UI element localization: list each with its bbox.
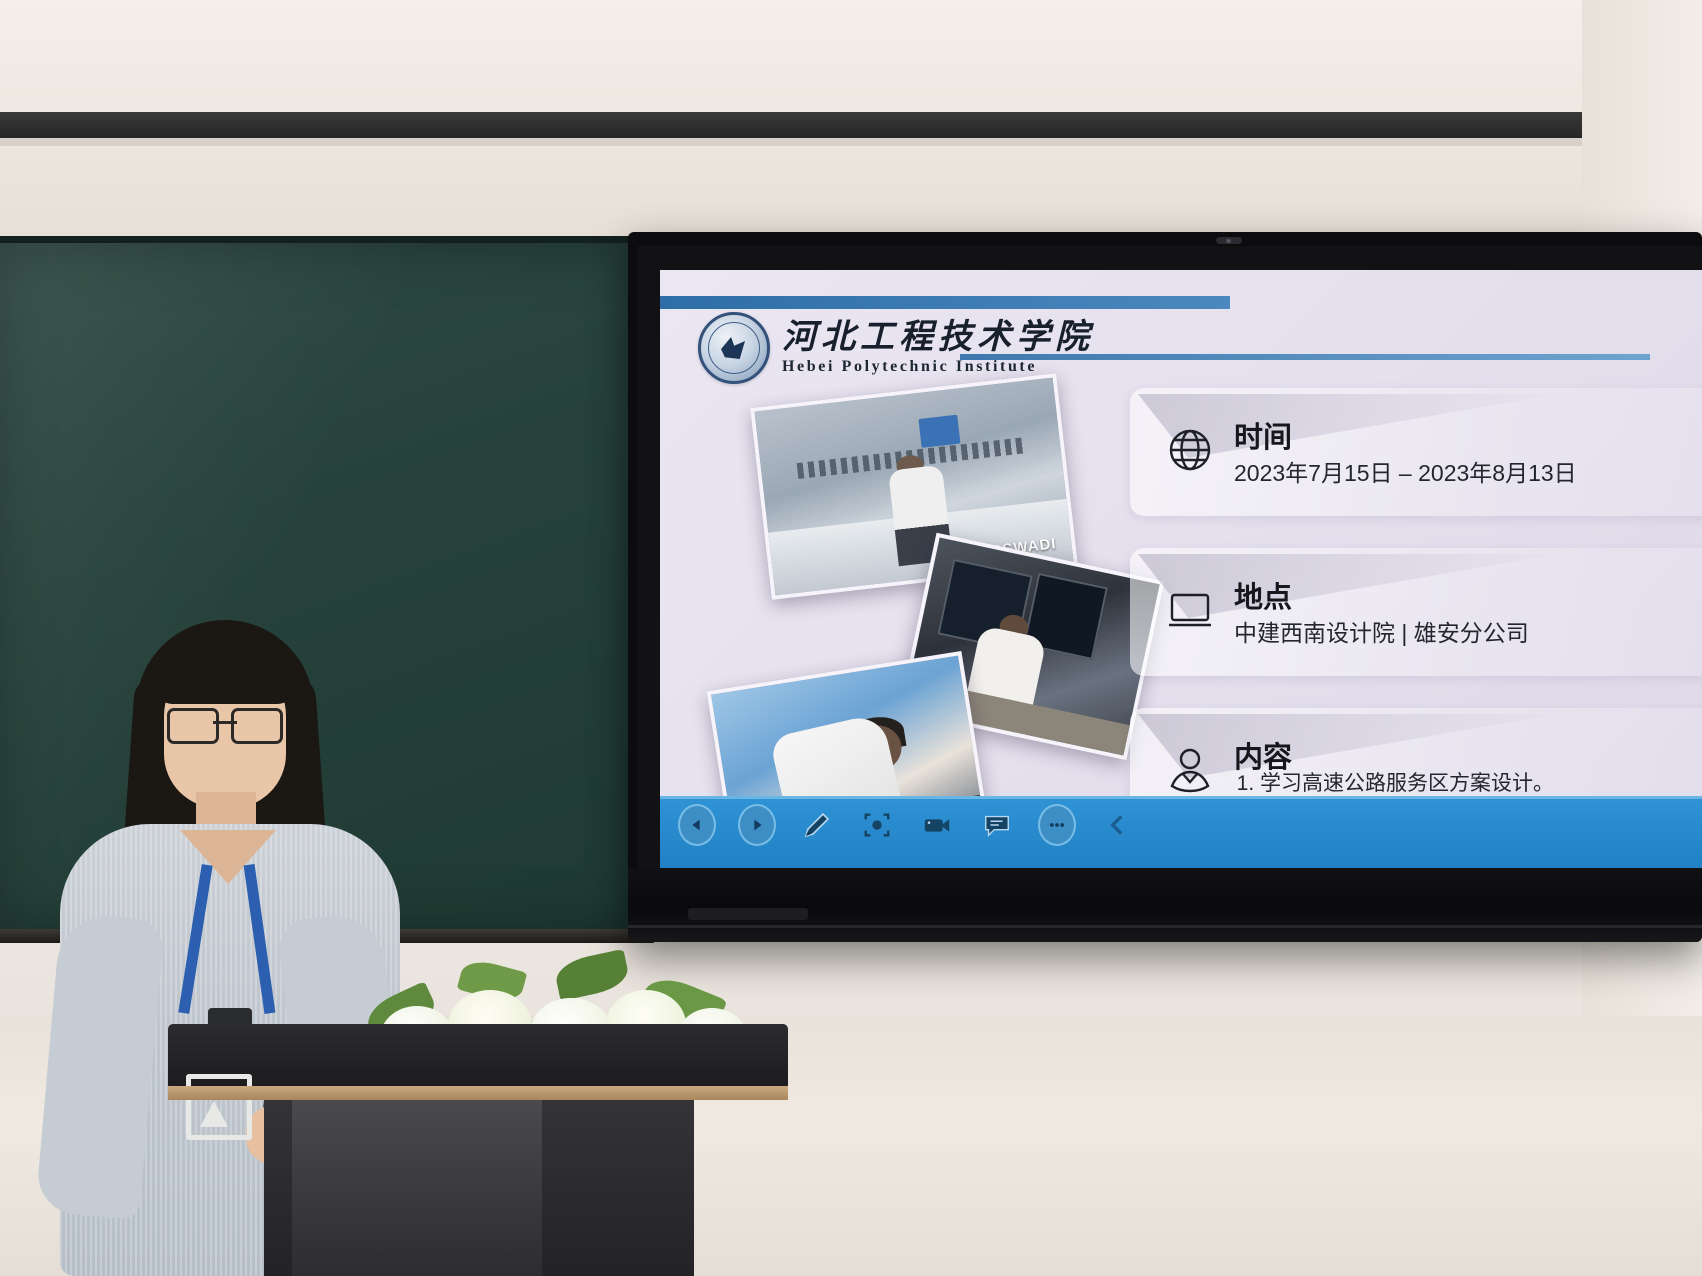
company-logo-plate <box>918 415 960 449</box>
info-row-location[interactable]: 地点 中建西南设计院 | 雄安分公司 02 <box>1130 548 1702 686</box>
capture-button[interactable] <box>858 806 896 844</box>
display-camera-icon <box>1216 237 1242 244</box>
eyeglasses-icon <box>167 708 283 738</box>
display-toolbar-bar <box>660 796 1702 870</box>
video-button[interactable] <box>918 806 956 844</box>
slide-accent-bar-top <box>660 296 1230 309</box>
info-row-time[interactable]: 时间 2023年7月15日 – 2023年8月13日 01 <box>1130 388 1702 526</box>
info-value-location: 中建西南设计院 | 雄安分公司 <box>1234 614 1529 648</box>
previous-button[interactable] <box>678 806 716 844</box>
pen-button[interactable] <box>798 806 836 844</box>
toolbar-top-highlight <box>660 796 1702 799</box>
school-seal-icon <box>698 312 770 384</box>
globe-icon <box>1166 426 1220 480</box>
wall-trim-band-lower <box>0 138 1702 146</box>
lectern-top-panel: 建筑与设计学院 <box>168 1024 788 1090</box>
wall-trim-band <box>0 112 1702 138</box>
person-icon <box>1166 746 1220 800</box>
display-chin-bar <box>628 925 1702 928</box>
display-bezel: 河北工程技术学院 Hebei Polytechnic Institute CSW… <box>638 246 1702 870</box>
pen-icon <box>801 809 833 841</box>
display-port-slot <box>688 908 808 920</box>
more-button[interactable] <box>1038 806 1076 844</box>
lectern: 建筑与设计学院 <box>168 986 788 1276</box>
speech-bubble-icon <box>982 810 1012 840</box>
display-chin <box>628 868 1702 942</box>
play-triangle-icon <box>738 804 776 846</box>
info-title-location: 地点 <box>1234 574 1292 616</box>
play-button[interactable] <box>738 806 776 844</box>
comment-button[interactable] <box>978 806 1016 844</box>
content-item: 学习高速公路服务区方案设计。 <box>1260 770 1690 798</box>
info-title-time: 时间 <box>1234 414 1292 456</box>
book-arch-logo-icon <box>186 1074 252 1140</box>
interactive-smart-display[interactable]: 河北工程技术学院 Hebei Polytechnic Institute CSW… <box>628 232 1702 942</box>
lectern-body-front <box>292 1100 542 1276</box>
display-toolbar <box>678 806 1136 844</box>
monitor-icon <box>1166 586 1220 640</box>
frame-capture-icon <box>862 810 892 840</box>
lectern-wood-edge <box>168 1086 788 1100</box>
collapse-button[interactable] <box>1098 806 1136 844</box>
institution-logo-block: 河北工程技术学院 Hebei Polytechnic Institute <box>698 312 1094 384</box>
ellipsis-icon <box>1038 804 1076 846</box>
classroom-scene: 河北工程技术学院 Hebei Polytechnic Institute CSW… <box>0 0 1702 1276</box>
presentation-slide[interactable]: 河北工程技术学院 Hebei Polytechnic Institute CSW… <box>660 270 1702 870</box>
prev-triangle-icon <box>678 804 716 846</box>
presenter-fringe <box>156 640 294 704</box>
chevron-left-icon <box>1104 812 1130 838</box>
institution-name-cn: 河北工程技术学院 <box>782 320 1094 356</box>
info-value-time: 2023年7月15日 – 2023年8月13日 <box>1234 454 1577 488</box>
video-camera-icon <box>922 810 952 840</box>
